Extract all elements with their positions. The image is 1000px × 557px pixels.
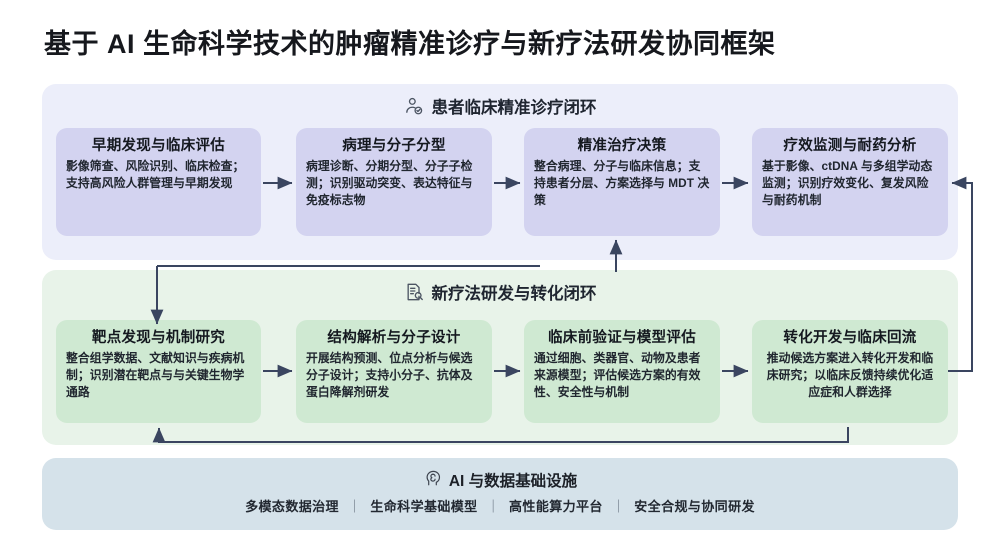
card-title: 病理与分子分型 [306,137,482,155]
card-target-discovery[interactable]: 靶点发现与机制研究 整合组学数据、文献知识与疾病机制；识别潜在靶点与与关键生物学… [56,320,261,423]
card-precision-treatment-decision[interactable]: 精准治疗决策 整合病理、分子与临床信息；支持患者分层、方案选择与 MDT 决策 [524,128,720,236]
card-title: 结构解析与分子设计 [306,329,482,347]
card-body: 推动候选方案进入转化开发和临床研究；以临床反馈持续优化适应症和人群选择 [762,350,938,400]
user-check-icon [404,96,424,116]
infra-item-1: 生命科学基础模型 [370,499,477,514]
card-translational-development[interactable]: 转化开发与临床回流 推动候选方案进入转化开发和临床研究；以临床反馈持续优化适应症… [752,320,948,423]
infra-separator: ｜ [607,499,630,514]
card-title: 疗效监测与耐药分析 [762,137,938,155]
card-body: 整合病理、分子与临床信息；支持患者分层、方案选择与 MDT 决策 [534,158,710,208]
card-title: 早期发现与临床评估 [66,137,251,155]
card-body: 通过细胞、类器官、动物及患者来源模型；评估候选方案的有效性、安全性与机制 [534,350,710,400]
document-search-icon [404,282,424,302]
card-body: 基于影像、ctDNA 与多组学动态监测；识别疗效变化、复发风险与耐药机制 [762,158,938,208]
infra-item-3: 安全合规与协同研发 [634,499,755,514]
card-early-detection[interactable]: 早期发现与临床评估 影像筛查、风险识别、临床检查；支持高风险人群管理与早期发现 [56,128,261,236]
card-pathology-molecular-typing[interactable]: 病理与分子分型 病理诊断、分期分型、分子子检测；识别驱动突变、表达特征与免疫标志… [296,128,492,236]
card-title: 精准治疗决策 [534,137,710,155]
page-title: 基于 AI 生命科学技术的肿瘤精准诊疗与新疗法研发协同框架 [44,22,776,61]
card-body: 影像筛查、风险识别、临床检查；支持高风险人群管理与早期发现 [66,158,251,192]
diagram-canvas: 基于 AI 生命科学技术的肿瘤精准诊疗与新疗法研发协同框架 患者临床精准诊疗闭环… [0,0,1000,557]
card-body: 开展结构预测、位点分析与候选分子设计；支持小分子、抗体及蛋白降解剂研发 [306,350,482,400]
infrastructure-title: AI 与数据基础设施 [449,469,577,491]
card-title: 转化开发与临床回流 [762,329,938,347]
card-title: 靶点发现与机制研究 [66,329,251,347]
infra-separator: ｜ [343,499,366,514]
clinical-loop-title: 患者临床精准诊疗闭环 [432,94,597,118]
infrastructure-header: AI 与数据基础设施 [42,468,958,492]
infra-item-2: 高性能算力平台 [509,499,603,514]
infrastructure-items: 多模态数据治理 ｜ 生命科学基础模型 ｜ 高性能算力平台 ｜ 安全合规与协同研发 [42,496,958,515]
card-preclinical-validation[interactable]: 临床前验证与模型评估 通过细胞、类器官、动物及患者来源模型；评估候选方案的有效性… [524,320,720,423]
card-body: 病理诊断、分期分型、分子子检测；识别驱动突变、表达特征与免疫标志物 [306,158,482,208]
rnd-loop-header: 新疗法研发与转化闭环 [42,280,958,304]
brain-head-icon [423,468,442,492]
card-title: 临床前验证与模型评估 [534,329,710,347]
card-structure-molecular-design[interactable]: 结构解析与分子设计 开展结构预测、位点分析与候选分子设计；支持小分子、抗体及蛋白… [296,320,492,423]
infra-separator: ｜ [482,499,505,514]
infra-item-0: 多模态数据治理 [245,499,339,514]
card-efficacy-monitoring[interactable]: 疗效监测与耐药分析 基于影像、ctDNA 与多组学动态监测；识别疗效变化、复发风… [752,128,948,236]
infrastructure-panel: AI 与数据基础设施 多模态数据治理 ｜ 生命科学基础模型 ｜ 高性能算力平台 … [42,458,958,530]
rnd-loop-title: 新疗法研发与转化闭环 [432,280,597,304]
clinical-loop-header: 患者临床精准诊疗闭环 [42,94,958,118]
card-body: 整合组学数据、文献知识与疾病机制；识别潜在靶点与与关键生物学通路 [66,350,251,400]
